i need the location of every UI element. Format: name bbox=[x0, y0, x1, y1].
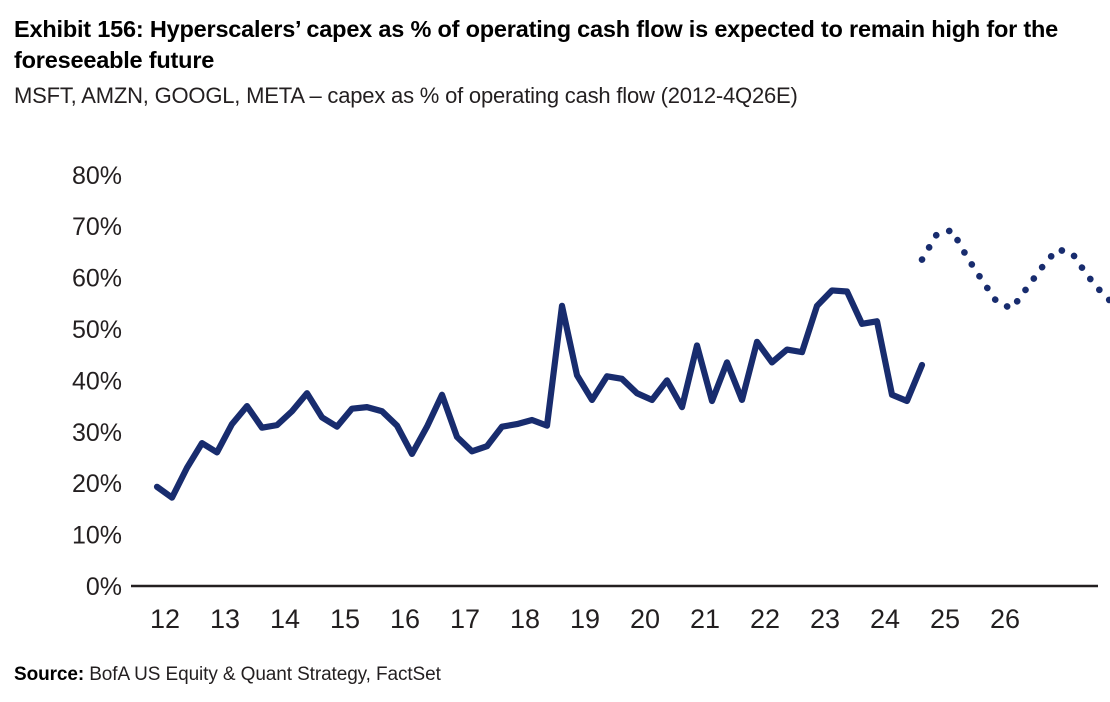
x-axis-tick-label: 13 bbox=[210, 604, 240, 634]
y-axis-tick-label: 80% bbox=[72, 162, 122, 190]
series-line-actual bbox=[157, 290, 922, 497]
x-axis-tick-label: 25 bbox=[930, 604, 960, 634]
y-axis-tick-labels: 0%10%20%30%40%50%60%70%80% bbox=[72, 162, 122, 601]
exhibit-page: Exhibit 156: Hyperscalers’ capex as % of… bbox=[0, 0, 1110, 702]
y-axis-tick-label: 30% bbox=[72, 419, 122, 447]
y-axis-tick-label: 50% bbox=[72, 316, 122, 344]
y-axis-tick-label: 70% bbox=[72, 213, 122, 241]
source-label: Source: bbox=[14, 664, 84, 685]
title-block: Exhibit 156: Hyperscalers’ capex as % of… bbox=[14, 14, 1074, 111]
x-axis-tick-label: 21 bbox=[690, 604, 720, 634]
page-title: Exhibit 156: Hyperscalers’ capex as % of… bbox=[14, 14, 1074, 76]
source-text: BofA US Equity & Quant Strategy, FactSet bbox=[89, 664, 441, 685]
y-axis-tick-label: 10% bbox=[72, 522, 122, 550]
y-axis-tick-label: 60% bbox=[72, 265, 122, 293]
y-axis-tick-label: 20% bbox=[72, 470, 122, 498]
x-axis-tick-label: 22 bbox=[750, 604, 780, 634]
source-note: Source: BofA US Equity & Quant Strategy,… bbox=[14, 664, 441, 686]
x-axis-tick-label: 19 bbox=[570, 604, 600, 634]
x-axis-tick-labels: 121314151617181920212223242526 bbox=[150, 604, 1020, 634]
x-axis-tick-label: 20 bbox=[630, 604, 660, 634]
x-axis-tick-label: 18 bbox=[510, 604, 540, 634]
x-axis-tick-label: 17 bbox=[450, 604, 480, 634]
x-axis-tick-label: 14 bbox=[270, 604, 300, 634]
x-axis-tick-label: 12 bbox=[150, 604, 180, 634]
series-line-forecast bbox=[922, 230, 1110, 317]
x-axis-tick-label: 23 bbox=[810, 604, 840, 634]
line-chart: 0%10%20%30%40%50%60%70%80% 1213141516171… bbox=[0, 140, 1110, 650]
y-axis-tick-label: 0% bbox=[86, 573, 122, 601]
page-subtitle: MSFT, AMZN, GOOGL, META – capex as % of … bbox=[14, 82, 1074, 111]
chart-area: 0%10%20%30%40%50%60%70%80% 1213141516171… bbox=[0, 140, 1110, 650]
x-axis-tick-label: 16 bbox=[390, 604, 420, 634]
x-axis-tick-label: 26 bbox=[990, 604, 1020, 634]
x-axis-tick-label: 15 bbox=[330, 604, 360, 634]
y-axis-tick-label: 40% bbox=[72, 367, 122, 395]
x-axis-tick-label: 24 bbox=[870, 604, 900, 634]
